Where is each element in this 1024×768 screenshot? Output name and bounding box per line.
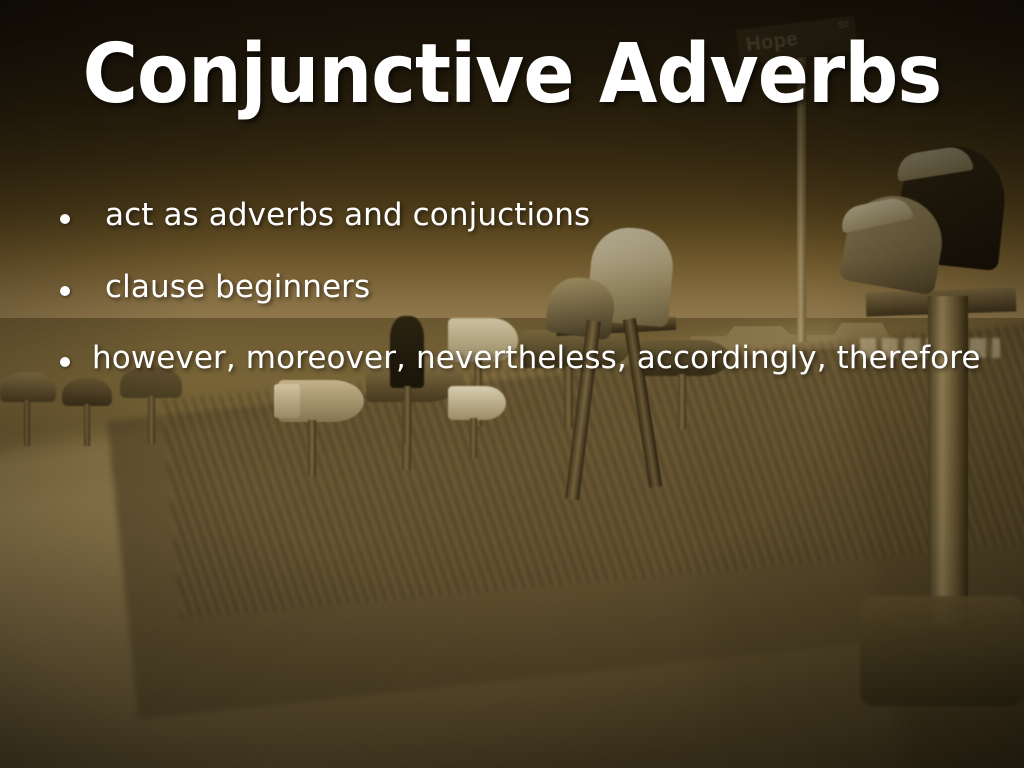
bullet-text: act as adverbs and conjuctions — [105, 198, 590, 233]
list-item: clause beginners — [60, 270, 1010, 305]
slide: Hope St Conjunctive Adverbs — [0, 0, 1024, 768]
bullet-dot-icon — [60, 357, 70, 367]
bullet-dot-icon — [60, 214, 70, 224]
bullet-text: clause beginners — [105, 270, 370, 305]
slide-content: Conjunctive Adverbs act as adverbs and c… — [0, 0, 1024, 768]
bullet-text: however, moreover, nevertheless, accordi… — [92, 341, 981, 376]
list-item: act as adverbs and conjuctions — [60, 198, 1010, 233]
bullet-list: act as adverbs and conjuctions clause be… — [60, 198, 1010, 413]
bullet-dot-icon — [60, 286, 70, 296]
slide-title: Conjunctive Adverbs — [41, 34, 983, 116]
list-item: however, moreover, nevertheless, accordi… — [60, 341, 1010, 376]
